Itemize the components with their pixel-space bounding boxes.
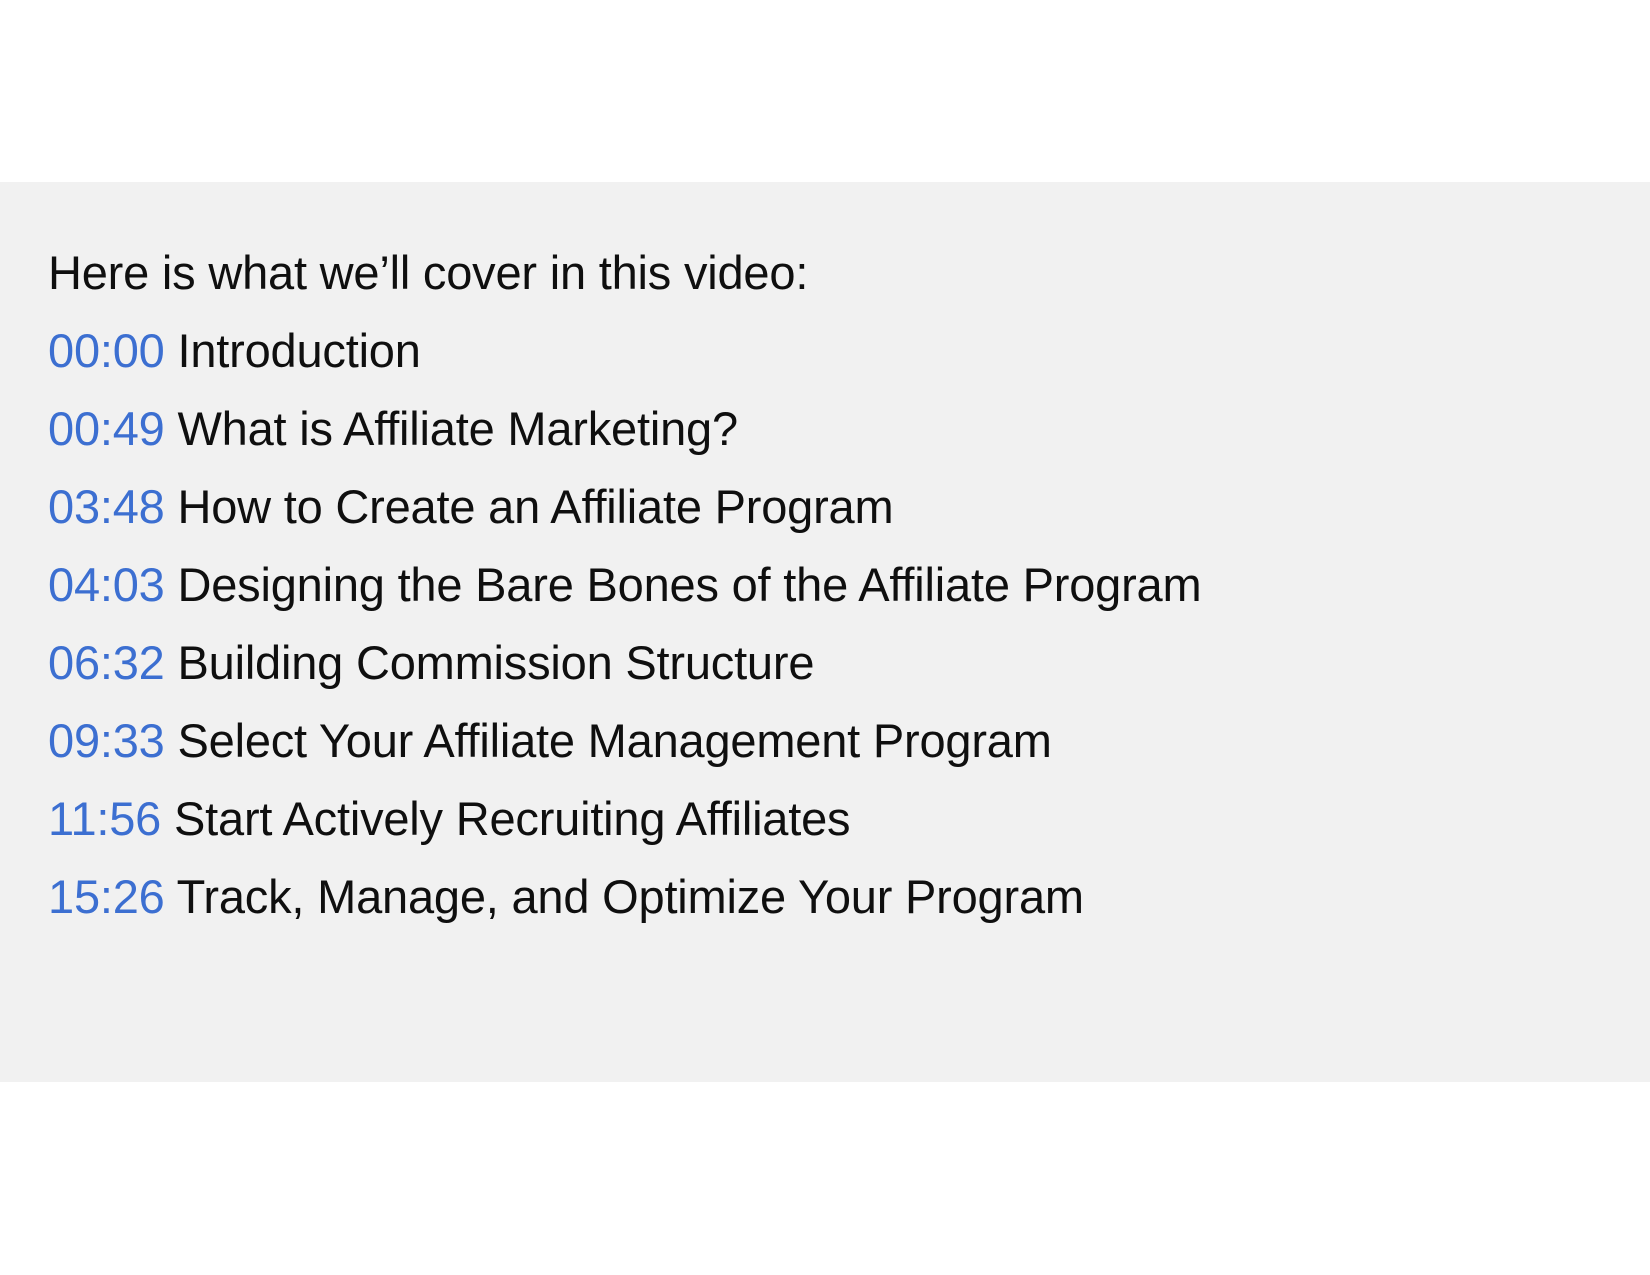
- chapter-title: Track, Manage, and Optimize Your Program: [177, 870, 1084, 923]
- chapter-timestamp-link[interactable]: 03:48: [48, 480, 165, 533]
- chapter-timestamp-link[interactable]: 04:03: [48, 558, 165, 611]
- chapter-row: 04:03 Designing the Bare Bones of the Af…: [48, 546, 1610, 624]
- chapter-title: Introduction: [177, 324, 420, 377]
- chapter-row: 15:26 Track, Manage, and Optimize Your P…: [48, 858, 1610, 936]
- chapter-timestamp-link[interactable]: 06:32: [48, 636, 165, 689]
- chapter-timestamp-link[interactable]: 09:33: [48, 714, 165, 767]
- chapter-title: What is Affiliate Marketing?: [177, 402, 737, 455]
- chapter-title: Start Actively Recruiting Affiliates: [174, 792, 850, 845]
- chapter-row: 11:56 Start Actively Recruiting Affiliat…: [48, 780, 1610, 858]
- description-intro-line: Here is what we’ll cover in this video:: [48, 234, 1610, 312]
- chapter-row: 00:00 Introduction: [48, 312, 1610, 390]
- page-root: Here is what we’ll cover in this video: …: [0, 0, 1650, 1275]
- chapter-row: 06:32 Building Commission Structure: [48, 624, 1610, 702]
- chapter-title: Building Commission Structure: [177, 636, 814, 689]
- chapter-timestamp-link[interactable]: 00:49: [48, 402, 165, 455]
- chapter-title: Select Your Affiliate Management Program: [177, 714, 1051, 767]
- chapter-row: 09:33 Select Your Affiliate Management P…: [48, 702, 1610, 780]
- chapter-title: Designing the Bare Bones of the Affiliat…: [177, 558, 1201, 611]
- chapter-timestamp-link[interactable]: 11:56: [48, 792, 161, 845]
- video-description-panel: Here is what we’ll cover in this video: …: [0, 182, 1650, 1082]
- chapter-list: 00:00 Introduction 00:49 What is Affilia…: [48, 312, 1610, 936]
- chapter-title: How to Create an Affiliate Program: [177, 480, 893, 533]
- chapter-timestamp-link[interactable]: 00:00: [48, 324, 165, 377]
- chapter-timestamp-link[interactable]: 15:26: [48, 870, 165, 923]
- chapter-row: 03:48 How to Create an Affiliate Program: [48, 468, 1610, 546]
- chapter-row: 00:49 What is Affiliate Marketing?: [48, 390, 1610, 468]
